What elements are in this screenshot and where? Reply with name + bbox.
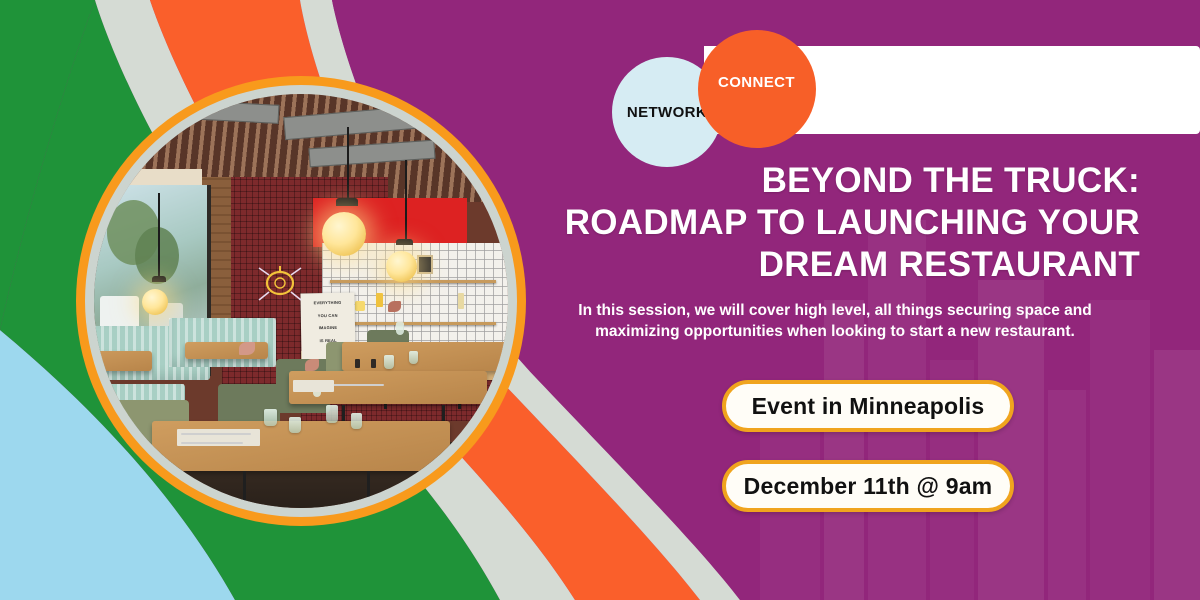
headline-line-1: BEYOND THE TRUCK: (520, 160, 1140, 202)
network-badge-label: NETWORK (627, 104, 707, 121)
neon-turtle-sign (251, 260, 309, 306)
photo-inner-ring: EVERYTHING YOU CAN IMAGINE IS REAL (85, 85, 517, 517)
headline: BEYOND THE TRUCK: ROADMAP TO LAUNCHING Y… (520, 160, 1140, 286)
event-banner: EVERYTHING YOU CAN IMAGINE IS REAL (0, 0, 1200, 600)
session-description: In this session, we will cover high leve… (540, 300, 1130, 342)
description-line-2: maximizing opportunities when looking to… (540, 321, 1130, 342)
poster-line-3: IMAGINE (301, 324, 355, 330)
headline-line-2: ROADMAP TO LAUNCHING YOUR (520, 202, 1140, 244)
event-location-pill[interactable]: Event in Minneapolis (722, 380, 1014, 432)
poster-line-2: YOU CAN (301, 312, 355, 318)
headline-line-3: DREAM RESTAURANT (520, 244, 1140, 286)
restaurant-photo-ring: EVERYTHING YOU CAN IMAGINE IS REAL (76, 76, 526, 526)
connect-badge: CONNECT (698, 30, 816, 148)
restaurant-interior-photo: EVERYTHING YOU CAN IMAGINE IS REAL (94, 94, 508, 508)
description-line-1: In this session, we will cover high leve… (540, 300, 1130, 321)
event-location-label: Event in Minneapolis (752, 393, 985, 420)
event-datetime-pill[interactable]: December 11th @ 9am (722, 460, 1014, 512)
event-datetime-label: December 11th @ 9am (744, 473, 993, 500)
connect-badge-label: CONNECT (718, 74, 795, 91)
